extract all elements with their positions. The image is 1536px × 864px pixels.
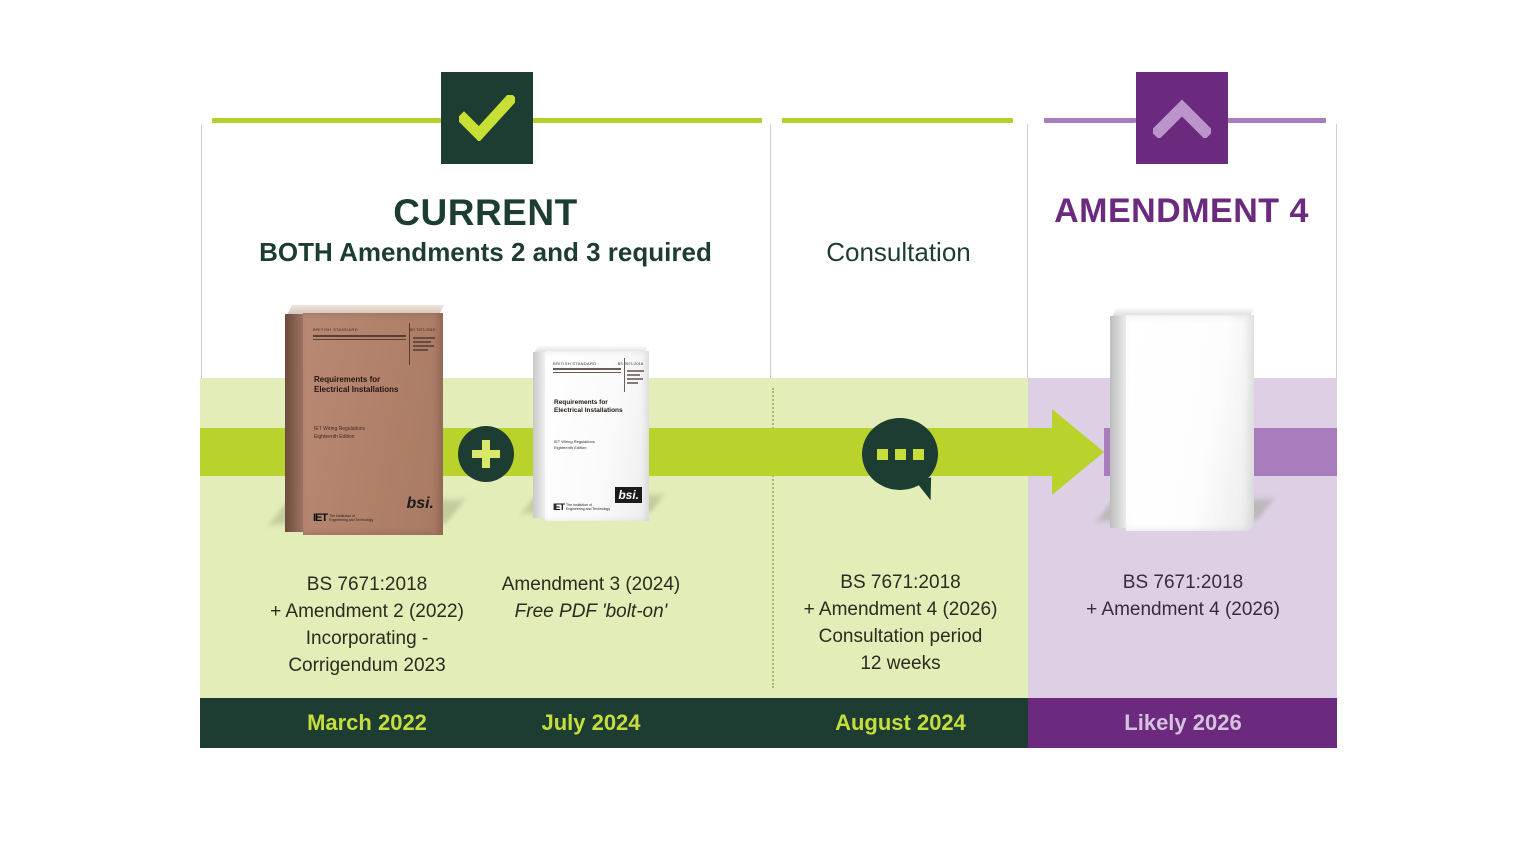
column-subtitle-current: BOTH Amendments 2 and 3 required: [201, 237, 770, 268]
bubble-dot-2: [895, 449, 906, 460]
top-rule-amendment4-left: [1044, 118, 1136, 123]
book-rule-1: [553, 368, 621, 370]
book-front-cover: [1126, 315, 1254, 531]
iet-institution-text: The Institution of Engineering and Techn…: [566, 503, 610, 511]
caption-line: Amendment 3 (2024): [466, 572, 716, 599]
chevron-up-icon: [1153, 98, 1211, 138]
book-spine: [533, 352, 545, 518]
caption-line: BS 7671:2018: [237, 572, 497, 599]
column-title-current: CURRENT: [201, 192, 770, 234]
book-institution-logo: IET The Institution of Engineering and T…: [553, 502, 610, 512]
caption-line: Corrigendum 2023: [237, 653, 497, 680]
book-front-cover: BRITISH STANDARD BS 7671:2018 Requiremen…: [303, 313, 443, 535]
caption-line: Consultation period: [777, 624, 1024, 651]
book-publisher-logo: bsi.: [615, 487, 642, 503]
iet-line2: Engineering and Technology: [566, 507, 610, 511]
bubble-dot-1: [877, 449, 888, 460]
book-header-right: BS 7671:2018: [410, 327, 435, 332]
book-title-line2: Electrical Installations: [554, 407, 623, 416]
caption-line-italic: Free PDF 'bolt-on': [466, 599, 716, 626]
book-amendment3-pdf: BRITISH STANDARD BS 7671:2018 Requiremen…: [533, 345, 653, 523]
check-icon-box: [441, 72, 533, 164]
top-rule-current-left: [212, 118, 441, 123]
book-amendment4-blank: [1110, 307, 1260, 533]
book-front-cover: BRITISH STANDARD BS 7671:2018 Requiremen…: [545, 351, 649, 521]
book-spine: [1110, 316, 1126, 528]
book-subtitle-line2: Eighteenth Edition: [554, 445, 586, 451]
date-label-likely-2026: Likely 2026: [1061, 698, 1305, 748]
book-side-notes: [627, 370, 645, 386]
book-rule-2: [313, 339, 406, 340]
top-rule-current-right: [533, 118, 762, 123]
date-label-august-2024: August 2024: [777, 698, 1024, 748]
date-label-march-2022: March 2022: [237, 698, 497, 748]
plus-icon: [458, 426, 514, 482]
iet-mark: IET: [553, 502, 564, 512]
date-label-july-2024: July 2024: [466, 698, 716, 748]
book-side-notes: [413, 337, 437, 353]
book-subtitle-line1: IET Wiring Regulations: [554, 439, 595, 445]
book-subtitle-line2: Eighteenth Edition: [314, 434, 355, 441]
caption-line: + Amendment 4 (2026): [777, 597, 1024, 624]
caption-line: BS 7671:2018: [1061, 570, 1305, 597]
right-arrow-icon: [1052, 409, 1104, 495]
caption-line: + Amendment 4 (2026): [1061, 597, 1305, 624]
book-publisher-logo: bsi.: [406, 495, 434, 513]
book-vertical-rule: [624, 358, 625, 392]
column-divider-3: [1027, 124, 1028, 378]
chevron-up-icon-box: [1136, 72, 1228, 164]
caption-line: Incorporating -: [237, 626, 497, 653]
iet-institution-text: The Institution of Engineering and Techn…: [329, 514, 373, 522]
caption-line: BS 7671:2018: [777, 570, 1024, 597]
book-vertical-rule: [409, 323, 410, 365]
caption-amendment3: Amendment 3 (2024) Free PDF 'bolt-on': [466, 572, 716, 626]
top-rule-amendment4-right: [1228, 118, 1326, 123]
book-header-left: BRITISH STANDARD: [313, 327, 358, 332]
book-header-left: BRITISH STANDARD: [553, 361, 596, 366]
book-subtitle-line1: IET Wiring Regulations: [314, 426, 365, 433]
book-spine: [285, 314, 303, 532]
caption-amendment2: BS 7671:2018 + Amendment 2 (2022) Incorp…: [237, 572, 497, 680]
plus-vertical-bar: [482, 440, 490, 468]
ellipsis-speech-bubble-icon: [862, 418, 938, 490]
bubble-dot-3: [913, 449, 924, 460]
caption-amendment4: BS 7671:2018 + Amendment 4 (2026): [1061, 570, 1305, 624]
book-institution-logo: IET The Institution of Engineering and T…: [313, 512, 373, 524]
top-rule-consultation: [782, 118, 1013, 123]
book-title-line2: Electrical Installations: [314, 385, 398, 396]
iet-mark: IET: [313, 512, 327, 524]
book-bs7671-amendment2: BRITISH STANDARD BS 7671:2018 Requiremen…: [285, 305, 450, 537]
column-title-amendment4: AMENDMENT 4: [1027, 192, 1336, 231]
book-rule-2: [553, 372, 621, 373]
column-divider-4: [1336, 124, 1337, 378]
caption-line: 12 weeks: [777, 651, 1024, 678]
book-header-right: BS 7671:2018: [618, 361, 643, 366]
caption-consultation: BS 7671:2018 + Amendment 4 (2026) Consul…: [777, 570, 1024, 678]
column-subtitle-consultation: Consultation: [770, 237, 1027, 268]
caption-line: + Amendment 2 (2022): [237, 599, 497, 626]
iet-line2: Engineering and Technology: [329, 518, 373, 522]
book-rule-1: [313, 335, 406, 337]
timeline-infographic: CURRENT BOTH Amendments 2 and 3 required…: [0, 0, 1536, 864]
check-icon: [459, 95, 515, 141]
